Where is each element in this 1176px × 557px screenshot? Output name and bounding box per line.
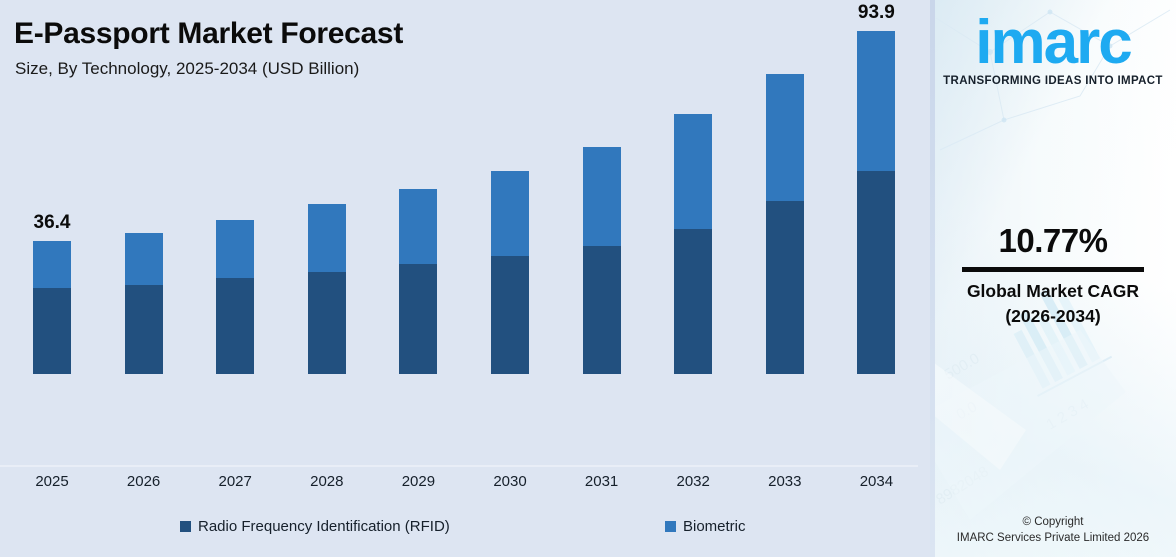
bar-group[interactable]: 42.2	[216, 220, 254, 374]
chart-legend: Radio Frequency Identification (RFID) Bi…	[0, 518, 930, 542]
axis-baseline	[0, 465, 918, 467]
bar-segment-rfid[interactable]	[491, 256, 529, 374]
bar-group[interactable]: 38.5	[125, 233, 163, 374]
bar-segment-rfid[interactable]	[674, 229, 712, 374]
legend-label-biometric: Biometric	[683, 518, 746, 535]
bar-group[interactable]: 93.9	[857, 31, 895, 374]
cagr-callout: 10.77% Global Market CAGR (2026-2034)	[930, 222, 1176, 327]
bar-segment-rfid[interactable]	[125, 285, 163, 374]
x-axis-label: 2029	[399, 473, 437, 490]
bar-group[interactable]: 82.0	[766, 74, 804, 374]
bar-segment-biometric[interactable]	[308, 204, 346, 272]
bar-value-label: 36.4	[34, 212, 71, 234]
cagr-divider	[962, 267, 1144, 272]
x-axis-label: 2027	[216, 473, 254, 490]
bar-segment-rfid[interactable]	[308, 272, 346, 374]
x-axis-label: 2033	[766, 473, 804, 490]
x-axis-label: 2025	[33, 473, 71, 490]
bar-segment-rfid[interactable]	[216, 278, 254, 374]
legend-swatch-icon-biometric	[665, 521, 676, 532]
x-axis-label: 2030	[491, 473, 529, 490]
bar-segment-biometric[interactable]	[399, 189, 437, 264]
cagr-period: (2026-2034)	[930, 306, 1176, 327]
cagr-label: Global Market CAGR	[930, 281, 1176, 302]
bar-group[interactable]: 50.6	[399, 189, 437, 374]
bar-segment-biometric[interactable]	[857, 31, 895, 171]
bar-segment-biometric[interactable]	[216, 220, 254, 278]
legend-item-rfid[interactable]: Radio Frequency Identification (RFID)	[180, 518, 450, 535]
copyright-notice: © Copyright IMARC Services Private Limit…	[930, 514, 1176, 547]
x-axis-label: 2032	[674, 473, 712, 490]
x-axis-label: 2028	[308, 473, 346, 490]
bar-value-label: 93.9	[858, 2, 895, 24]
copyright-line-2: IMARC Services Private Limited 2026	[930, 530, 1176, 547]
bar-segment-rfid[interactable]	[399, 264, 437, 374]
bar-group[interactable]: 71.1	[674, 114, 712, 374]
bar-group[interactable]: 55.6	[491, 171, 529, 374]
bar-segment-biometric[interactable]	[583, 147, 621, 246]
legend-label-rfid: Radio Frequency Identification (RFID)	[198, 518, 450, 535]
chart-panel: E-Passport Market Forecast Size, By Tech…	[0, 0, 930, 557]
plot-area: 36.438.542.246.550.655.662.271.182.093.9…	[0, 0, 930, 466]
bar-segment-biometric[interactable]	[125, 233, 163, 285]
x-axis-label: 2026	[125, 473, 163, 490]
bar-segment-rfid[interactable]	[857, 171, 895, 374]
bar-segment-rfid[interactable]	[766, 201, 804, 374]
legend-swatch-icon-rfid	[180, 521, 191, 532]
x-axis-label: 2031	[583, 473, 621, 490]
chart-page: E-Passport Market Forecast Size, By Tech…	[0, 0, 1176, 557]
logo-wordmark: imarc	[975, 14, 1130, 73]
bar-segment-biometric[interactable]	[33, 241, 71, 288]
bar-segment-biometric[interactable]	[766, 74, 804, 200]
bar-group[interactable]: 46.5	[308, 204, 346, 374]
legend-item-biometric[interactable]: Biometric	[665, 518, 746, 535]
bar-segment-biometric[interactable]	[491, 171, 529, 256]
imarc-logo: imarc TRANSFORMING IDEAS INTO IMPACT	[930, 14, 1176, 87]
copyright-line-1: © Copyright	[930, 514, 1176, 531]
x-axis-label: 2034	[857, 473, 895, 490]
bar-segment-biometric[interactable]	[674, 114, 712, 228]
bar-segment-rfid[interactable]	[583, 246, 621, 374]
bar-group[interactable]: 62.2	[583, 147, 621, 374]
cagr-value: 10.77%	[930, 222, 1176, 260]
bar-group[interactable]: 36.4	[33, 241, 71, 374]
bar-segment-rfid[interactable]	[33, 288, 71, 374]
brand-panel: 500.0 0.0 1 2 3 4 8982048 imarc TRANSFOR…	[930, 0, 1176, 557]
